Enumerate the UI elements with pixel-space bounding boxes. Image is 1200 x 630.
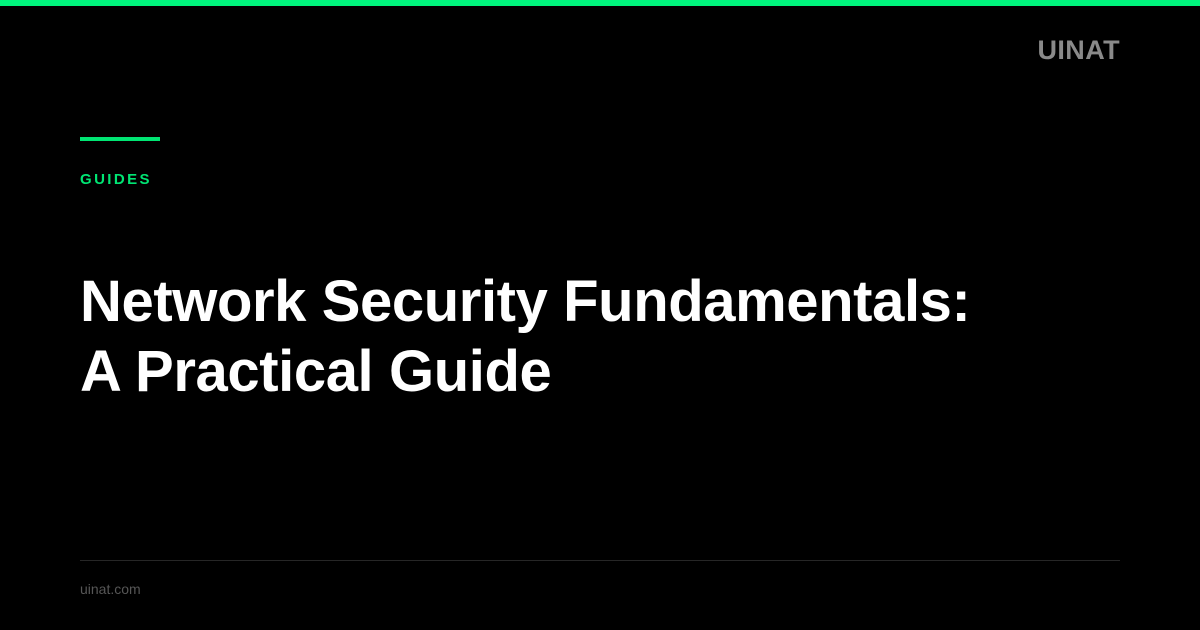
card-footer: uinat.com [80, 560, 1120, 597]
eyebrow-group: GUIDES [80, 137, 160, 188]
accent-bar-icon [80, 137, 160, 141]
footer-divider [80, 560, 1120, 561]
category-label: GUIDES [80, 172, 160, 188]
page-title: Network Security Fundamentals: A Practic… [80, 267, 1080, 407]
page-title-line-1: Network Security Fundamentals: [80, 267, 1080, 337]
site-url: uinat.com [80, 581, 1120, 597]
top-accent-rule-icon [0, 0, 1200, 6]
brand-logo: UINAT [1038, 34, 1121, 66]
social-share-card: UINAT GUIDES Network Security Fundamenta… [0, 0, 1200, 630]
page-title-line-2: A Practical Guide [80, 337, 1080, 407]
